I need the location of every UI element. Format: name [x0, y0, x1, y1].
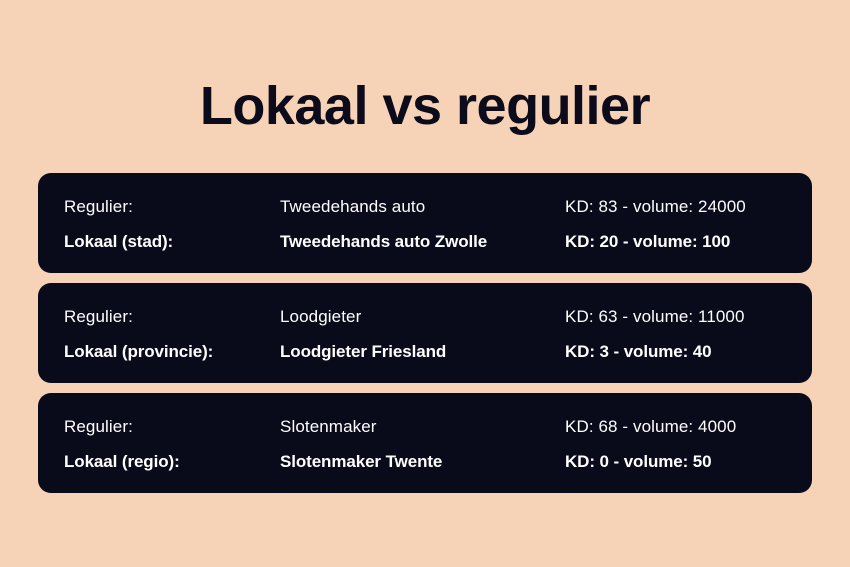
local-label: Lokaal (provincie): — [64, 341, 213, 363]
regular-metrics: KD: 83 - volume: 24000 — [565, 196, 746, 218]
local-label: Lokaal (regio): — [64, 451, 180, 473]
page-title: Lokaal vs regulier — [0, 74, 850, 138]
regular-metrics: KD: 68 - volume: 4000 — [565, 416, 736, 438]
local-keyword-row: Lokaal (stad): Tweedehands auto Zwolle K… — [38, 231, 812, 253]
local-keyword: Loodgieter Friesland — [280, 341, 446, 363]
local-metrics: KD: 0 - volume: 50 — [565, 451, 712, 473]
local-keyword-row: Lokaal (regio): Slotenmaker Twente KD: 0… — [38, 451, 812, 473]
comparison-infographic: Lokaal vs regulier Regulier: Tweedehands… — [0, 0, 850, 567]
comparison-card: Regulier: Tweedehands auto KD: 83 - volu… — [38, 173, 812, 273]
local-metrics: KD: 3 - volume: 40 — [565, 341, 712, 363]
local-keyword-row: Lokaal (provincie): Loodgieter Friesland… — [38, 341, 812, 363]
local-label: Lokaal (stad): — [64, 231, 173, 253]
regular-label: Regulier: — [64, 416, 133, 438]
regular-keyword: Loodgieter — [280, 306, 361, 328]
regular-label: Regulier: — [64, 306, 133, 328]
regular-keyword-row: Regulier: Slotenmaker KD: 68 - volume: 4… — [38, 416, 812, 438]
regular-keyword: Slotenmaker — [280, 416, 377, 438]
comparison-card: Regulier: Slotenmaker KD: 68 - volume: 4… — [38, 393, 812, 493]
comparison-card: Regulier: Loodgieter KD: 63 - volume: 11… — [38, 283, 812, 383]
comparison-card-list: Regulier: Tweedehands auto KD: 83 - volu… — [38, 173, 812, 493]
regular-metrics: KD: 63 - volume: 11000 — [565, 306, 745, 328]
regular-keyword: Tweedehands auto — [280, 196, 425, 218]
local-keyword: Slotenmaker Twente — [280, 451, 442, 473]
local-keyword: Tweedehands auto Zwolle — [280, 231, 487, 253]
regular-keyword-row: Regulier: Loodgieter KD: 63 - volume: 11… — [38, 306, 812, 328]
regular-label: Regulier: — [64, 196, 133, 218]
regular-keyword-row: Regulier: Tweedehands auto KD: 83 - volu… — [38, 196, 812, 218]
local-metrics: KD: 20 - volume: 100 — [565, 231, 730, 253]
